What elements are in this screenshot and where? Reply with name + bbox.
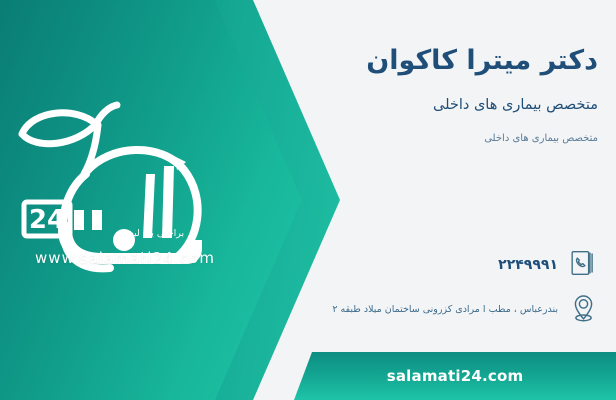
phonebook-icon — [568, 247, 598, 279]
contact-list: ۲۲۴۹۹۹۱ بندرعباس ، مطب ا مرادی کزرونی س — [198, 247, 598, 335]
footer-website-text: salamati24.com — [387, 367, 524, 385]
address-text-wrap: بندرعباس ، مطب ا مرادی کزرونی ساختمان می… — [198, 297, 558, 317]
clinic-address: بندرعباس ، مطب ا مرادی کزرونی ساختمان می… — [332, 304, 558, 315]
footer-website-bar[interactable]: salamati24.com — [294, 352, 616, 400]
doctor-profile-card: 24 براحتی یک لبخند www.salamati24.com دک… — [0, 0, 616, 400]
svg-text:24: 24 — [29, 205, 65, 235]
doctor-name: دکتر میترا کاکوان — [198, 44, 598, 78]
phone-number: ۲۲۴۹۹۹۱ — [498, 257, 558, 273]
contact-row-phone[interactable]: ۲۲۴۹۹۹۱ — [198, 247, 598, 279]
doctor-specialty-secondary: متخصص بیماری های داخلی — [198, 131, 598, 146]
map-pin-icon — [568, 291, 598, 323]
profile-content: دکتر میترا کاکوان متخصص بیماری های داخلی… — [198, 0, 598, 400]
contact-row-address[interactable]: بندرعباس ، مطب ا مرادی کزرونی ساختمان می… — [198, 291, 598, 323]
phone-text-wrap: ۲۲۴۹۹۹۱ — [198, 254, 558, 273]
doctor-specialty: متخصص بیماری های داخلی — [198, 95, 598, 117]
